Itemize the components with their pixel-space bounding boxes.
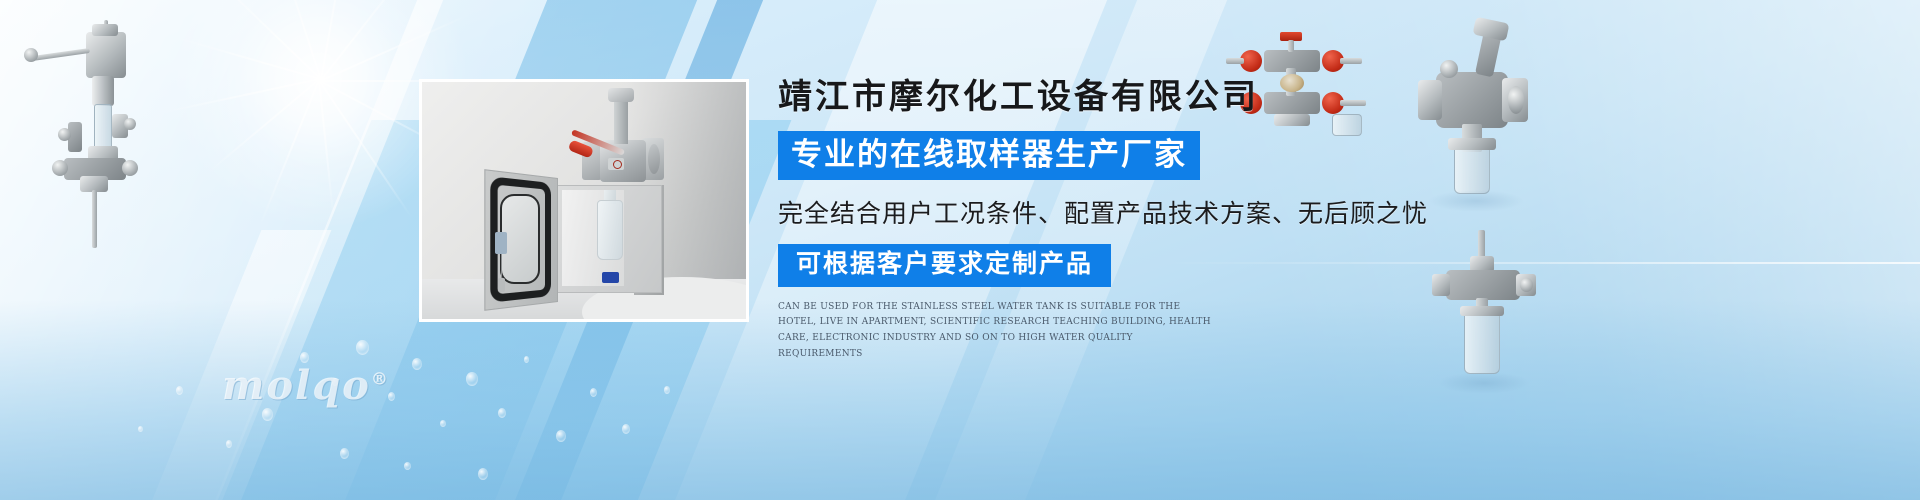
headline-badge-secondary: 可根据客户要求定制产品 xyxy=(778,244,1111,287)
illustration-sampling-valve xyxy=(1430,230,1540,405)
water-droplet xyxy=(226,440,232,448)
water-droplet xyxy=(176,386,183,395)
water-droplet xyxy=(412,358,422,370)
water-droplet xyxy=(440,420,446,427)
illustration-flanged-valve xyxy=(1418,20,1538,205)
headline-badge-primary: 专业的在线取样器生产厂家 xyxy=(778,131,1200,180)
registered-trademark-icon: ® xyxy=(371,370,390,390)
english-description: CAN BE USED FOR THE STAINLESS STEEL WATE… xyxy=(778,300,1218,363)
water-droplet xyxy=(404,462,411,470)
water-droplet xyxy=(262,408,273,421)
watermark-brand-text: molqo xyxy=(222,362,371,409)
water-droplet xyxy=(356,340,369,355)
water-droplet xyxy=(622,424,630,434)
water-droplet xyxy=(498,408,506,418)
water-droplet xyxy=(590,388,597,397)
water-droplet xyxy=(524,356,529,363)
banner-text-block: 靖江市摩尔化工设备有限公司 专业的在线取样器生产厂家 完全结合用户工况条件、配置… xyxy=(778,78,1418,363)
promotional-banner: 靖江市摩尔化工设备有限公司 专业的在线取样器生产厂家 完全结合用户工况条件、配置… xyxy=(0,0,1920,500)
brand-watermark: molqo® xyxy=(222,362,390,409)
water-droplet xyxy=(664,386,670,394)
water-droplet xyxy=(466,372,478,386)
company-title: 靖江市摩尔化工设备有限公司 xyxy=(778,78,1418,117)
illustration-sampler-assembly xyxy=(8,18,158,248)
water-droplet xyxy=(556,430,566,442)
product-photo xyxy=(419,79,749,322)
water-droplet xyxy=(340,448,349,459)
water-droplet xyxy=(138,426,143,432)
banner-subtitle: 完全结合用户工况条件、配置产品技术方案、无后顾之忧 xyxy=(778,194,1418,230)
water-droplet xyxy=(478,468,488,480)
